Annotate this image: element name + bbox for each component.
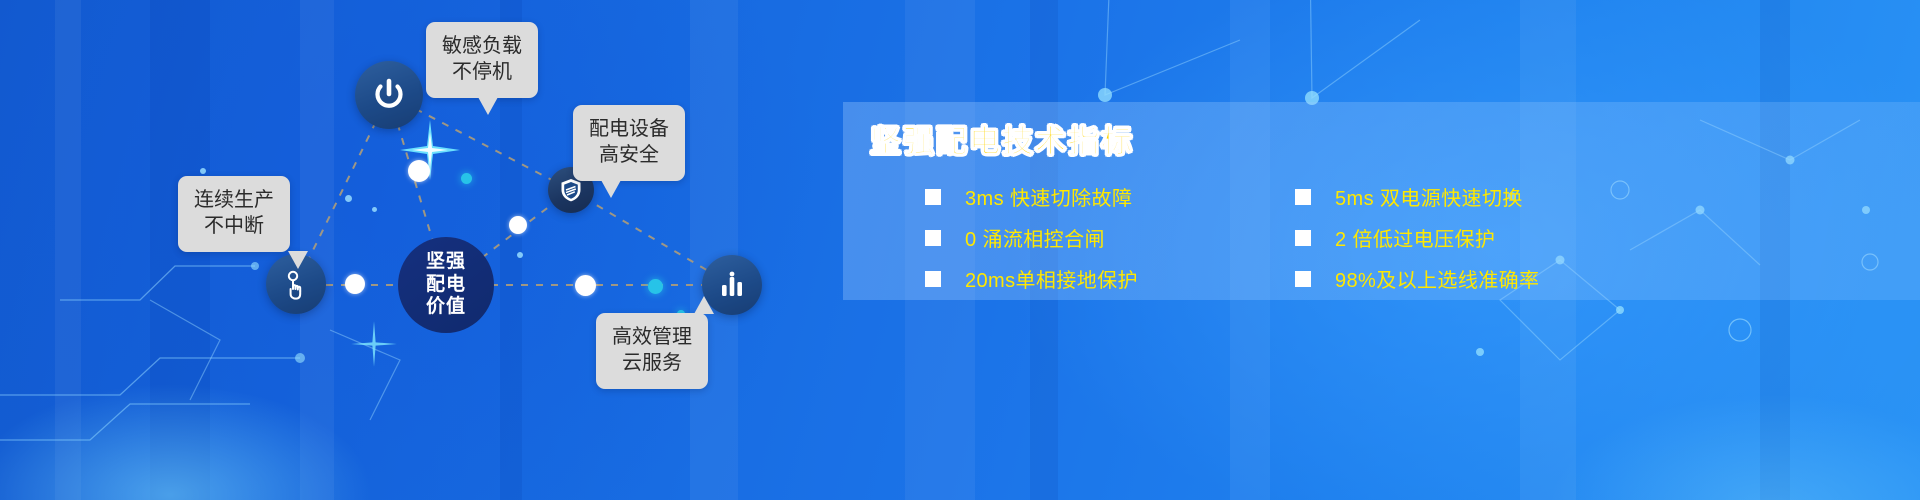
callout-line1: 高效管理 <box>612 324 692 350</box>
square-bullet-icon <box>1295 230 1311 246</box>
connector-dot <box>345 274 365 294</box>
diagram-node-power[interactable] <box>355 61 423 129</box>
spec-text: 0 涌流相控合闸 <box>965 223 1105 252</box>
callout-continuous-production[interactable]: 连续生产 不中断 <box>178 176 290 252</box>
hub-label-line2: 配电 <box>426 274 466 296</box>
callout-cloud-management[interactable]: 高效管理 云服务 <box>596 313 708 389</box>
callout-line1: 敏感负载 <box>442 33 522 59</box>
spec-item[interactable]: 20ms单相接地保护 <box>925 258 1295 299</box>
callout-line2: 高安全 <box>589 142 669 168</box>
square-bullet-icon <box>925 230 941 246</box>
square-bullet-icon <box>1295 271 1311 287</box>
promo-banner: 坚强 配电 价值 <box>0 0 1920 500</box>
callout-line2: 不停机 <box>442 59 522 85</box>
callout-tail <box>288 251 308 269</box>
connector-dot <box>509 216 527 234</box>
value-network-diagram: 坚强 配电 价值 <box>0 0 860 500</box>
accent-dot <box>461 173 472 184</box>
spec-item[interactable]: 3ms 快速切除故障 <box>925 176 1295 217</box>
callout-sensitive-load[interactable]: 敏感负载 不停机 <box>426 22 538 98</box>
power-icon <box>371 77 407 113</box>
callout-tail <box>601 180 621 198</box>
callout-equipment-safety[interactable]: 配电设备 高安全 <box>573 105 685 181</box>
connector-dot <box>575 275 596 296</box>
square-bullet-icon <box>1295 189 1311 205</box>
spec-text: 2 倍低过电压保护 <box>1335 223 1495 252</box>
bar-chart-icon <box>716 269 748 301</box>
accent-dot <box>517 252 523 258</box>
spec-panel: 坚强配电技术指标 3ms 快速切除故障 5ms 双电源快速切换 0 涌流相控合闸… <box>843 102 1920 300</box>
callout-tail <box>478 97 498 115</box>
spec-text: 3ms 快速切除故障 <box>965 182 1132 211</box>
spec-item[interactable]: 98%及以上选线准确率 <box>1295 258 1905 299</box>
hub-label-line1: 坚强 <box>426 251 466 273</box>
callout-line2: 不中断 <box>194 213 274 239</box>
connector-dot <box>408 160 430 182</box>
diagram-hub[interactable]: 坚强 配电 价值 <box>398 237 494 333</box>
spec-text: 20ms单相接地保护 <box>965 264 1138 293</box>
spec-item[interactable]: 0 涌流相控合闸 <box>925 217 1295 258</box>
accent-dot <box>345 195 352 202</box>
shield-icon <box>558 177 584 203</box>
spec-text: 98%及以上选线准确率 <box>1335 264 1539 293</box>
callout-tail <box>694 296 714 314</box>
connector-dot-cyan <box>648 279 663 294</box>
hand-touch-icon <box>279 267 313 301</box>
accent-dot <box>372 207 377 212</box>
panel-title: 坚强配电技术指标 <box>870 116 1134 161</box>
callout-line1: 配电设备 <box>589 116 669 142</box>
spec-item[interactable]: 2 倍低过电压保护 <box>1295 217 1905 258</box>
callout-line2: 云服务 <box>612 350 692 376</box>
square-bullet-icon <box>925 189 941 205</box>
hub-label-line3: 价值 <box>426 296 466 318</box>
spec-list: 3ms 快速切除故障 5ms 双电源快速切换 0 涌流相控合闸 2 倍低过电压保… <box>925 176 1905 299</box>
spec-item[interactable]: 5ms 双电源快速切换 <box>1295 176 1905 217</box>
spec-text: 5ms 双电源快速切换 <box>1335 182 1523 211</box>
callout-line1: 连续生产 <box>194 187 274 213</box>
accent-dot <box>200 168 206 174</box>
square-bullet-icon <box>925 271 941 287</box>
